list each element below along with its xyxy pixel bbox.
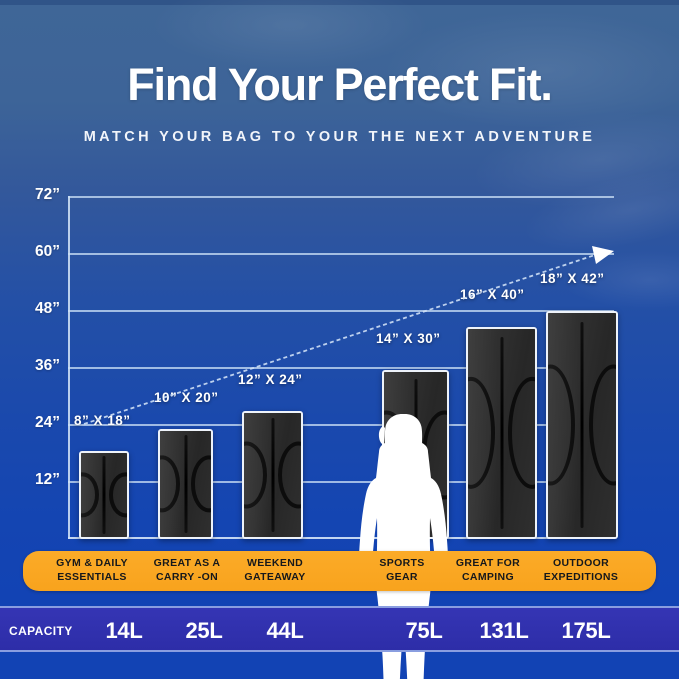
bag-size-label: 18” X 42” [540,271,605,286]
bag-bar[interactable] [79,451,129,539]
bag-highlight [468,329,498,537]
bag-bar[interactable] [546,311,618,539]
bag-bar[interactable] [158,429,213,539]
bag-size-label: 16” X 40” [460,287,525,302]
use-case-strip: GYM & DAILY ESSENTIALSGREAT AS A CARRY -… [23,551,656,591]
y-axis-tick-label: 36” [6,357,60,375]
y-axis-tick-label: 48” [6,300,60,318]
bag-zipper-icon [271,418,274,532]
y-axis-tick-value: 12” [35,471,60,488]
capacity-label: CAPACITY [9,624,73,638]
use-case-cell: GREAT AS A CARRY -ON [137,557,237,584]
page-subtitle: MATCH YOUR BAG TO YOUR THE NEXT ADVENTUR… [0,129,679,145]
gridline [68,310,614,312]
bag-zipper-icon [581,322,584,528]
y-axis-tick-label: 72” [6,186,60,204]
bag-highlight [548,313,579,537]
y-axis-tick-value: 36” [35,357,60,374]
bag-size-label: 12” X 24” [238,372,303,387]
y-axis-tick-value: 60” [35,243,60,260]
bag-bar[interactable] [466,327,537,539]
y-axis-tick-value: 72” [35,186,60,203]
gridline [68,253,614,255]
bag-size-label: 10” X 20” [154,390,219,405]
y-axis-tick-label: 60” [6,243,60,261]
use-case-cell: GREAT FOR CAMPING [438,557,538,584]
bag-zipper-icon [184,435,187,533]
bag-bar[interactable] [242,411,303,539]
y-axis-tick-label: 12” [6,471,60,489]
y-axis-tick-value: 48” [35,300,60,317]
header: Find Your Perfect Fit. MATCH YOUR BAG TO… [0,0,679,145]
infographic-canvas: Find Your Perfect Fit. MATCH YOUR BAG TO… [0,0,679,679]
bag-highlight [244,413,270,537]
gridline [68,196,614,198]
use-case-cell: WEEKEND GATEAWAY [225,557,325,584]
use-case-cell: OUTDOOR EXPEDITIONS [525,557,637,584]
bag-size-label: 8” X 18” [74,413,131,428]
capacity-value: 175L [534,618,638,644]
use-case-cell: GYM & DAILY ESSENTIALS [37,557,147,584]
capacity-value: 44L [233,618,337,644]
y-axis-tick-value: 24” [35,414,60,431]
y-axis-tick-label: 24” [6,414,60,432]
bag-size-label: 14” X 30” [376,331,441,346]
bag-highlight [81,453,102,537]
bag-zipper-icon [500,337,503,528]
use-case-cell: SPORTS GEAR [352,557,452,584]
capacity-strip: CAPACITY 14L25L44L75L131L175L [0,606,679,652]
bag-zipper-icon [103,456,106,533]
page-title: Find Your Perfect Fit. [0,62,679,107]
bag-highlight [160,431,183,537]
size-comparison-chart: 72”60”48”36”24”12” 8” X 18”10” X 20”12” … [68,196,614,539]
